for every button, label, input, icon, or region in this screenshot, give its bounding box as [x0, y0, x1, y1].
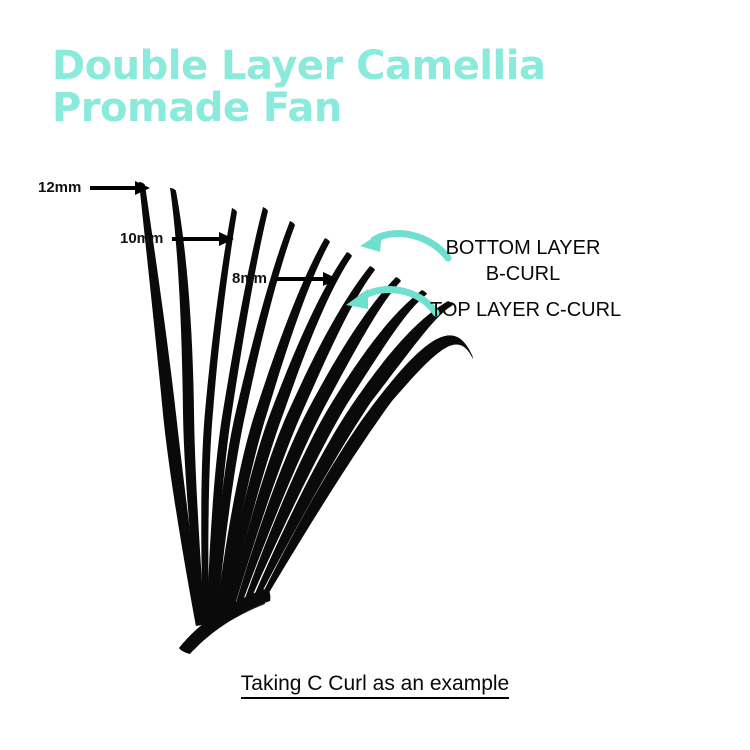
title-line-2: Promade Fan	[52, 88, 652, 130]
lash-base-stem	[179, 588, 270, 654]
lash-strand-10	[242, 290, 427, 607]
lash-strand-11	[251, 301, 453, 603]
measurement-label-10mm: 10mm	[120, 231, 163, 246]
lash-strand-9	[234, 277, 401, 610]
curved-arrow-left-icon-top-layer	[340, 283, 440, 325]
caption-text: Taking C Curl as an example	[241, 672, 509, 699]
arrow-right-icon	[172, 235, 234, 242]
bottom-layer-annotation: BOTTOM LAYER B-CURL	[432, 236, 614, 287]
lash-strand-2	[170, 188, 205, 625]
top-layer-annotation: TOP LAYER C-CURL	[430, 298, 621, 324]
measurement-callout-12mm: 12mm	[38, 180, 150, 195]
lash-base-stem-shadow	[186, 592, 265, 650]
bottom-layer-line-1: BOTTOM LAYER	[432, 236, 614, 262]
arrow-right-icon	[276, 275, 338, 282]
caption: Taking C Curl as an example	[0, 672, 750, 696]
lash-strand-1	[139, 182, 202, 626]
bottom-layer-line-2: B-CURL	[432, 262, 614, 288]
measurement-callout-8mm: 8mm	[232, 271, 338, 286]
measurement-label-8mm: 8mm	[232, 271, 267, 286]
measurement-label-12mm: 12mm	[38, 180, 81, 195]
product-graphic-canvas: Double Layer Camellia Promade Fan 12mm 1…	[0, 0, 750, 750]
lash-strand-12	[260, 335, 473, 599]
top-layer-line-1: TOP LAYER C-CURL	[430, 298, 621, 324]
lash-strand-7	[221, 252, 352, 615]
measurement-callout-10mm: 10mm	[120, 231, 234, 246]
page-title: Double Layer Camellia Promade Fan	[52, 46, 652, 129]
lash-strand-6	[216, 238, 330, 617]
arrow-right-icon	[90, 184, 150, 191]
title-line-1: Double Layer Camellia	[52, 46, 652, 88]
